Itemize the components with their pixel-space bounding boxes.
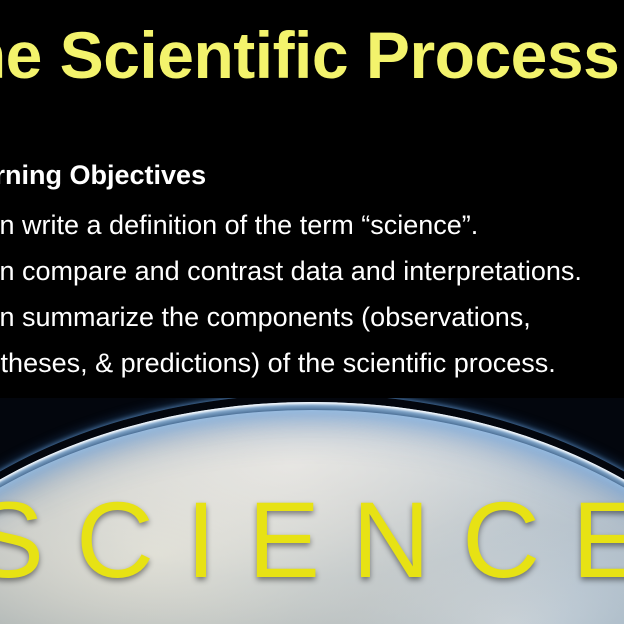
learning-objectives-block: Learning Objectives I can write a defini… bbox=[0, 128, 624, 408]
list-item: I can summarize the components (observat… bbox=[0, 294, 624, 340]
presentation-slide: The Scientific Process Learning Objectiv… bbox=[0, 0, 624, 624]
earth-from-orbit-image bbox=[0, 398, 624, 624]
objectives-bullet-list: I can write a definition of the term “sc… bbox=[0, 202, 624, 386]
list-item: hypotheses, & predictions) of the scient… bbox=[0, 340, 624, 386]
slide-title: The Scientific Process bbox=[0, 12, 619, 98]
list-item: I can compare and contrast data and inte… bbox=[0, 248, 624, 294]
atmosphere-halo bbox=[0, 398, 624, 624]
learning-objectives-heading: Learning Objectives bbox=[0, 158, 206, 192]
list-item: I can write a definition of the term “sc… bbox=[0, 202, 624, 248]
slide-title-band: The Scientific Process bbox=[0, 0, 624, 128]
